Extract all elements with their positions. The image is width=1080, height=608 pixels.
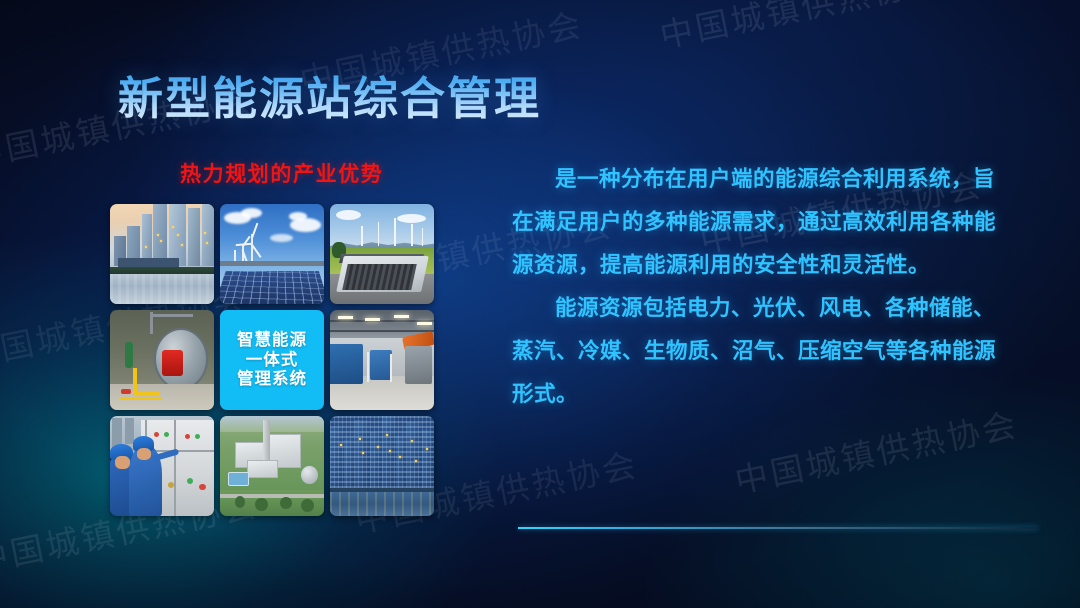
center-label-line-3: 管理系统 [237, 370, 307, 388]
plant-aerial-image [220, 416, 324, 516]
boiler-room-image [110, 310, 214, 410]
section-subtitle: 热力规划的产业优势 [180, 158, 383, 188]
energy-storage-image [330, 204, 434, 304]
industrial-hall-image [330, 310, 434, 410]
center-label-line-2: 一体式 [246, 351, 299, 369]
accent-divider-line [518, 527, 1038, 529]
image-gallery-grid: 智慧能源 一体式 管理系统 [110, 204, 440, 524]
workers-control-panel-image [110, 416, 214, 516]
gallery-tile-battery-storage-field [330, 204, 434, 304]
page-title: 新型能源站综合管理 [118, 62, 541, 127]
city-skyline-image [110, 204, 214, 304]
gallery-tile-highrise-waterfront [330, 416, 434, 516]
highrise-waterfront-image [330, 416, 434, 516]
gallery-tile-center-label: 智慧能源 一体式 管理系统 [220, 310, 324, 410]
gallery-tile-industrial-hall [330, 310, 434, 410]
solar-wind-image [220, 204, 324, 304]
gallery-tile-solar-panels-wind [220, 204, 324, 304]
gallery-tile-plant-aerial-view [220, 416, 324, 516]
gallery-tile-boiler-room [110, 310, 214, 410]
body-text-block: 是一种分布在用户端的能源综合利用系统，旨在满足用户的多种能源需求，通过高效利用各… [512, 158, 1012, 416]
paragraph-1: 是一种分布在用户端的能源综合利用系统，旨在满足用户的多种能源需求，通过高效利用各… [512, 158, 1012, 287]
paragraph-2: 能源资源包括电力、光伏、风电、各种储能、蒸汽、冷媒、生物质、沼气、压缩空气等各种… [512, 287, 1012, 416]
gallery-tile-city-skyline-dusk [110, 204, 214, 304]
gallery-tile-workers-control-panel [110, 416, 214, 516]
center-label-line-1: 智慧能源 [237, 331, 307, 349]
